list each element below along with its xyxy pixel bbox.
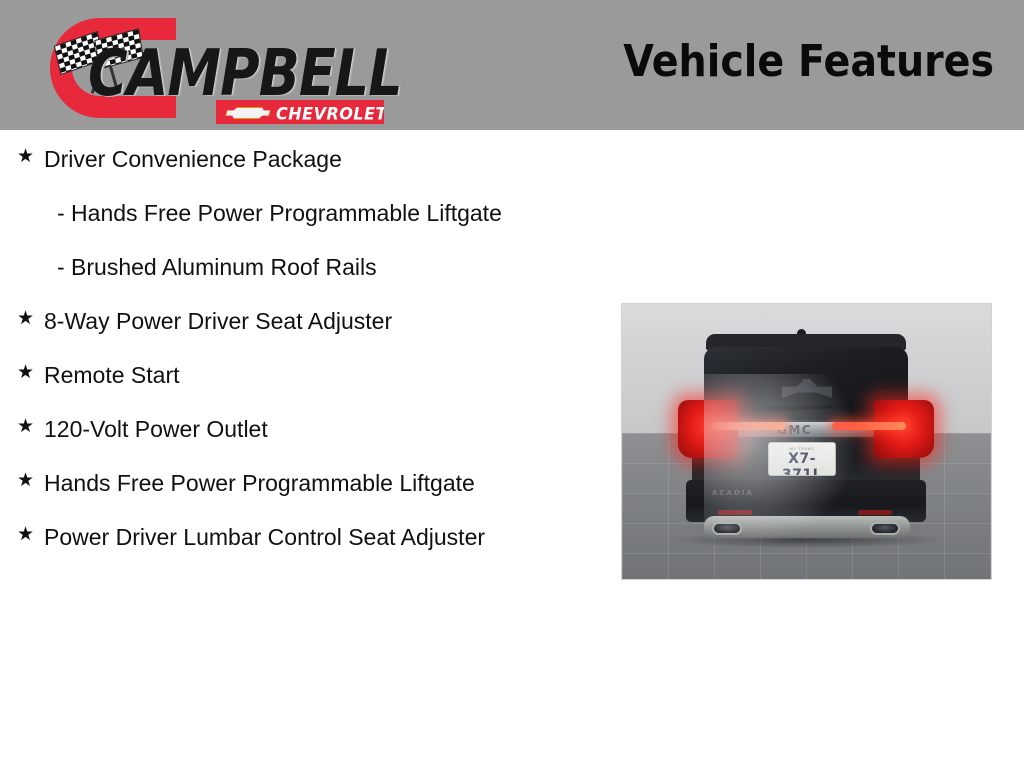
window-decal [782,379,832,398]
license-plate-number: X7-371L [769,451,835,476]
reflector-right [858,510,892,515]
star-bullet-icon: ★ [14,142,44,172]
chevrolet-bowtie-icon [224,107,271,119]
list-item-label: 120-Volt Power Outlet [44,412,554,446]
list-item: ★ 8-Way Power Driver Seat Adjuster [14,304,554,338]
exhaust-tip-right [870,522,900,535]
dealer-logo: CAMPBELL CHEVROLET [44,14,384,120]
list-item: ★ Hands Free Power Programmable Liftgate [14,466,554,500]
list-item: ★ Driver Convenience Package [14,142,554,176]
chevrolet-label: CHEVROLET [276,104,384,124]
exhaust-tip-left [712,522,742,535]
list-item: ★ Remote Start [14,358,554,392]
feature-list: ★ Driver Convenience Package - Hands Fre… [14,142,554,574]
star-bullet-icon: ★ [14,520,44,550]
list-item-label: Hands Free Power Programmable Liftgate [44,466,554,500]
list-item-label: Power Driver Lumbar Control Seat Adjuste… [44,520,554,554]
taillight-strip-right [832,422,906,430]
list-item: ★ 120-Volt Power Outlet [14,412,554,446]
list-sub-item: - Hands Free Power Programmable Liftgate [57,196,547,230]
star-bullet-icon: ★ [14,304,44,334]
list-item-label: 8-Way Power Driver Seat Adjuster [44,304,554,338]
list-item: ★ Power Driver Lumbar Control Seat Adjus… [14,520,554,554]
license-plate: MY TEXAS X7-371L [768,442,836,476]
model-badge: ACADIA [712,489,754,497]
list-sub-item: - Brushed Aluminum Roof Rails [57,250,547,284]
page-header: CAMPBELL CHEVROLET Vehicle Features [0,0,1024,130]
vehicle-body: GMC MY TEXAS X7-371L ACADIA [682,334,930,539]
list-item-label: Driver Convenience Package [44,142,554,176]
star-bullet-icon: ★ [14,358,44,388]
reflector-left [718,510,752,515]
page-title: Vehicle Features [623,36,994,87]
vehicle-rear-photo: GMC MY TEXAS X7-371L ACADIA [621,303,992,580]
list-item-label: Remote Start [44,358,554,392]
taillight-strip-left [712,422,786,430]
star-bullet-icon: ★ [14,466,44,496]
star-bullet-icon: ★ [14,412,44,442]
chevrolet-banner: CHEVROLET [216,100,384,124]
